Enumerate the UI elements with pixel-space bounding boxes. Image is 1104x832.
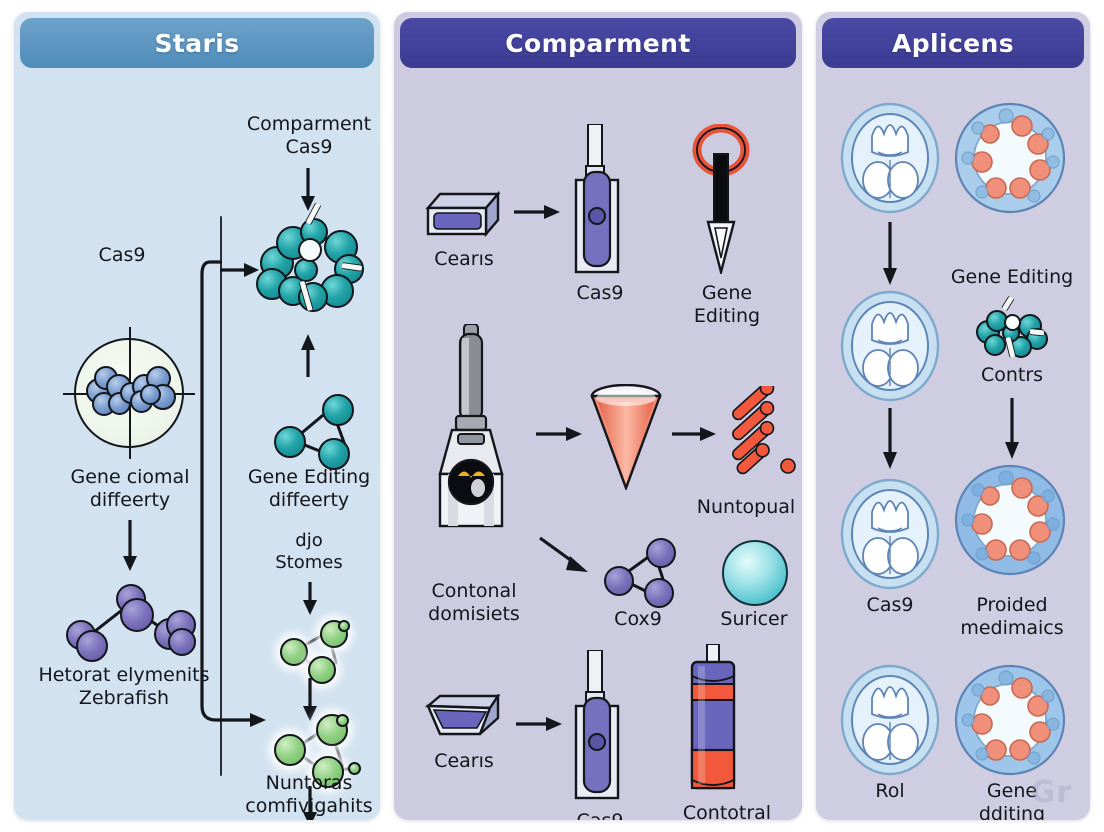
hetorat-elymenits-caption: Hetorat elymenits Zebrafish [28, 664, 220, 710]
embryo-cross-section-icon-3 [838, 478, 942, 590]
slide-box-icon [424, 190, 502, 240]
funnel-icon [590, 384, 662, 490]
vesicle-cell-icon-2 [952, 462, 1068, 578]
pipette-device-icon [418, 324, 528, 532]
cearis-label-row1: Cearıs [416, 248, 512, 271]
panel-staris-body: Comparment Cas9 [14, 68, 380, 820]
gene-editing-label-right: Gene Editing [944, 266, 1080, 289]
panel-comparment-body: Cearıs Cas9 [394, 68, 802, 820]
embryo-cross-section-icon-2 [838, 290, 942, 402]
contonal-domisiets-label: Contonal domisiets [408, 580, 540, 626]
panel-aplicens: Aplicens [816, 12, 1090, 820]
cearis-label-row3: Cearıs [416, 750, 512, 773]
arrow-row2-to-rods [672, 426, 718, 442]
green-molecule-icon [276, 620, 354, 680]
embryo-cross-section-icon [838, 102, 942, 214]
contrs-label: Contrs [948, 364, 1076, 387]
arrow-down-embryo-1 [882, 222, 898, 286]
arrow-down-left-column [122, 520, 138, 572]
vesicle-cell-icon-3 [952, 662, 1068, 778]
arrow-row2-to-cox9 [540, 536, 598, 580]
cas9-label-right: Cas9 [840, 594, 940, 617]
needle-probe-icon [686, 124, 756, 274]
panel-comparment: Comparment Cearıs [394, 12, 802, 820]
arrow-row1-to-cuvette [514, 204, 562, 220]
rol-label: Rol [840, 780, 940, 803]
nuntoras-comfivigahits-caption: Nuntoras comfivigahits [226, 772, 380, 818]
compartment-cas9-label: Comparment Cas9 [226, 113, 380, 159]
cas9-label-row1: Cas9 [552, 282, 648, 305]
panel-comparment-title: Comparment [400, 18, 796, 68]
embryo-cross-section-icon-4 [838, 664, 942, 776]
purple-branched-molecule-icon [58, 576, 204, 662]
panel-staris: Staris Comparment Cas9 [14, 12, 380, 820]
arrow-down-to-green-molecule [302, 582, 318, 616]
arrow-row3-to-cuvette [516, 716, 564, 732]
suricer-label: Suricer [692, 608, 802, 631]
arrow-row2-to-funnel [536, 426, 584, 442]
teal-sphere-icon [722, 540, 788, 606]
panel-aplicens-title: Aplicens [822, 18, 1084, 68]
nuntopual-label: Nuntopual [684, 496, 802, 519]
cas9-label-left: Cas9 [54, 244, 190, 267]
banded-tube-icon [686, 644, 742, 794]
teal-triangle-molecule-icon [274, 394, 352, 466]
proided-medimaics-label: Proided medimaics [944, 594, 1080, 640]
bond [1001, 296, 1014, 312]
purple-triangle-molecule-icon [604, 538, 674, 604]
cuvette-icon-row3 [570, 650, 630, 802]
arrow-down-embryo-2 [882, 408, 898, 470]
arrow-up-to-cas9-complex [300, 330, 316, 378]
vesicle-cell-icon [952, 100, 1068, 216]
bond [1030, 328, 1045, 336]
red-rods-icon [724, 386, 802, 480]
cox9-label: Cox9 [590, 608, 686, 631]
figure-root: Staris Comparment Cas9 [0, 0, 1104, 832]
panel-aplicens-body: Gene Editing Contrs [816, 68, 1090, 820]
watermark: Gr [1031, 775, 1072, 810]
petri-dish-with-blue-molecules-icon [70, 334, 188, 452]
cuvette-icon [570, 124, 630, 276]
arrow-down-contrs [1004, 398, 1020, 460]
slide-box-icon-row3 [424, 694, 502, 744]
teal-cas9-complex-small-icon [974, 306, 1046, 362]
arrow-elbow-to-green-molecule [200, 258, 272, 738]
cas9-label-row3: Cas9 [552, 810, 648, 820]
gene-editing-label-row1: Gene Editing [668, 282, 786, 328]
contotral-demparsintds-label: Contotral demparsintds [656, 802, 798, 820]
panel-staris-title: Staris [20, 18, 374, 68]
gene-ciomal-caption: Gene ciomal diffeerty [42, 466, 218, 512]
